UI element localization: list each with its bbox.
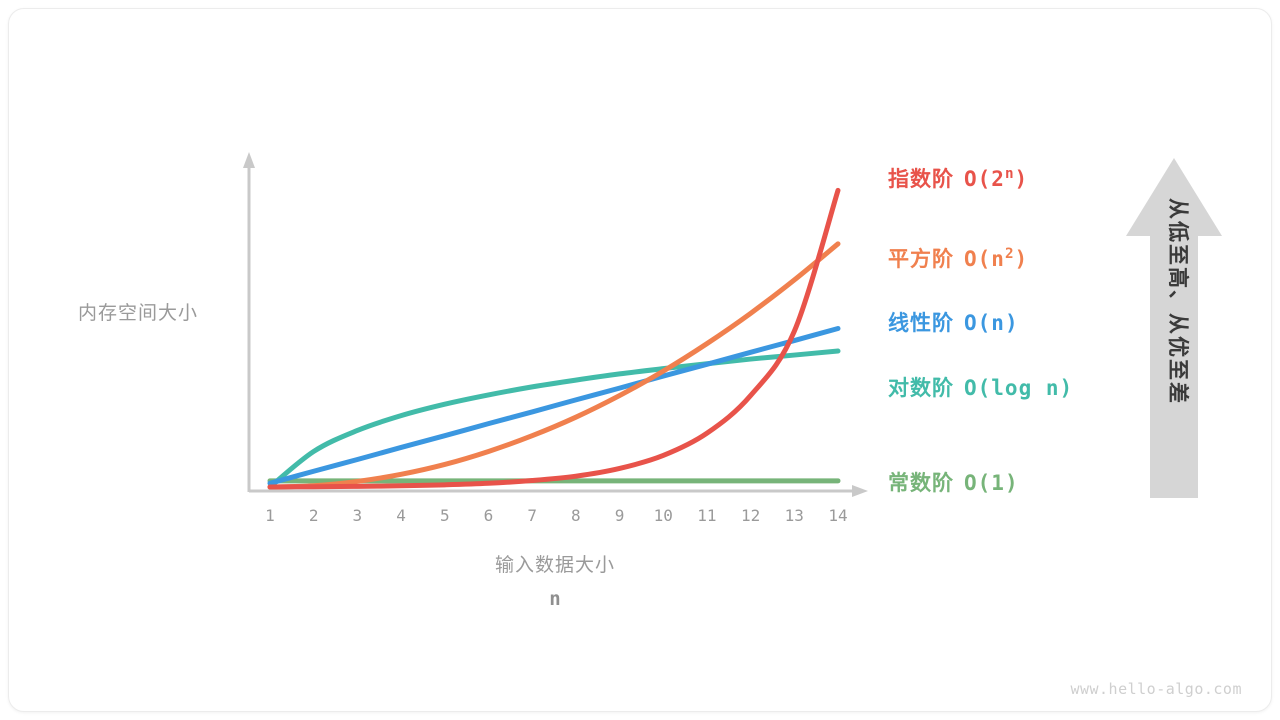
legend-notation-head: O(n <box>964 311 1005 335</box>
legend-label-notation: O(1) <box>964 471 1019 495</box>
legend-notation-exponent: 2 <box>1005 246 1015 262</box>
watermark: www.hello-algo.com <box>1070 680 1242 698</box>
curve-o-n-2 <box>270 244 838 487</box>
x-tick-13: 13 <box>779 506 809 525</box>
x-axis-arrow-icon <box>852 485 868 497</box>
side-arrow-label: 从低至高、从优至差 <box>1164 198 1194 438</box>
curve-group <box>270 190 838 487</box>
legend-notation-tail: ) <box>1005 311 1019 335</box>
legend-item-1[interactable]: 指数阶O(2n) <box>888 163 1028 193</box>
x-tick-10: 10 <box>648 506 678 525</box>
legend-label-notation: O(log n) <box>964 376 1073 400</box>
x-axis-label: 输入数据大小 <box>0 550 1110 577</box>
curve-o-n <box>270 328 838 483</box>
y-axis-arrow-icon <box>243 152 255 168</box>
x-axis-label-variable: n <box>0 588 1110 610</box>
legend-notation-tail: ) <box>1015 167 1029 191</box>
x-tick-1: 1 <box>255 506 285 525</box>
legend-notation-head: O(1 <box>964 471 1005 495</box>
legend-item-2[interactable]: 平方阶O(n2) <box>888 243 1028 273</box>
x-tick-6: 6 <box>473 506 503 525</box>
legend-label-cn: 平方阶 <box>888 248 954 271</box>
legend-label-notation: O(2n) <box>964 167 1028 191</box>
chart-page: 内存空间大小 输入数据大小 n 1234567891011121314 指数阶O… <box>0 0 1280 720</box>
legend-notation-exponent: n <box>1005 166 1015 182</box>
legend-label-notation: O(n2) <box>964 247 1028 271</box>
legend-notation-head: O(n <box>964 247 1005 271</box>
legend-notation-tail: ) <box>1060 376 1074 400</box>
legend-notation-head: O(log n <box>964 376 1060 400</box>
legend-notation-tail: ) <box>1005 471 1019 495</box>
x-tick-5: 5 <box>430 506 460 525</box>
x-tick-9: 9 <box>605 506 635 525</box>
complexity-chart <box>0 0 1280 720</box>
x-tick-4: 4 <box>386 506 416 525</box>
legend-item-3[interactable]: 线性阶O(n) <box>888 307 1019 337</box>
curve-o-log-n <box>270 351 838 487</box>
legend-notation-tail: ) <box>1015 247 1029 271</box>
curve-o-2-n <box>270 190 838 487</box>
legend-item-4[interactable]: 对数阶O(log n) <box>888 372 1073 402</box>
legend-label-cn: 指数阶 <box>888 168 954 191</box>
x-tick-7: 7 <box>517 506 547 525</box>
legend-label-notation: O(n) <box>964 311 1019 335</box>
legend-item-5[interactable]: 常数阶O(1) <box>888 467 1019 497</box>
legend-label-cn: 常数阶 <box>888 472 954 495</box>
x-tick-11: 11 <box>692 506 722 525</box>
x-tick-14: 14 <box>823 506 853 525</box>
x-tick-12: 12 <box>736 506 766 525</box>
y-axis-label: 内存空间大小 <box>78 298 198 325</box>
legend-label-cn: 对数阶 <box>888 377 954 400</box>
legend-notation-head: O(2 <box>964 167 1005 191</box>
axes-group <box>243 152 868 497</box>
x-tick-2: 2 <box>299 506 329 525</box>
legend-label-cn: 线性阶 <box>888 312 954 335</box>
x-tick-8: 8 <box>561 506 591 525</box>
x-tick-3: 3 <box>342 506 372 525</box>
